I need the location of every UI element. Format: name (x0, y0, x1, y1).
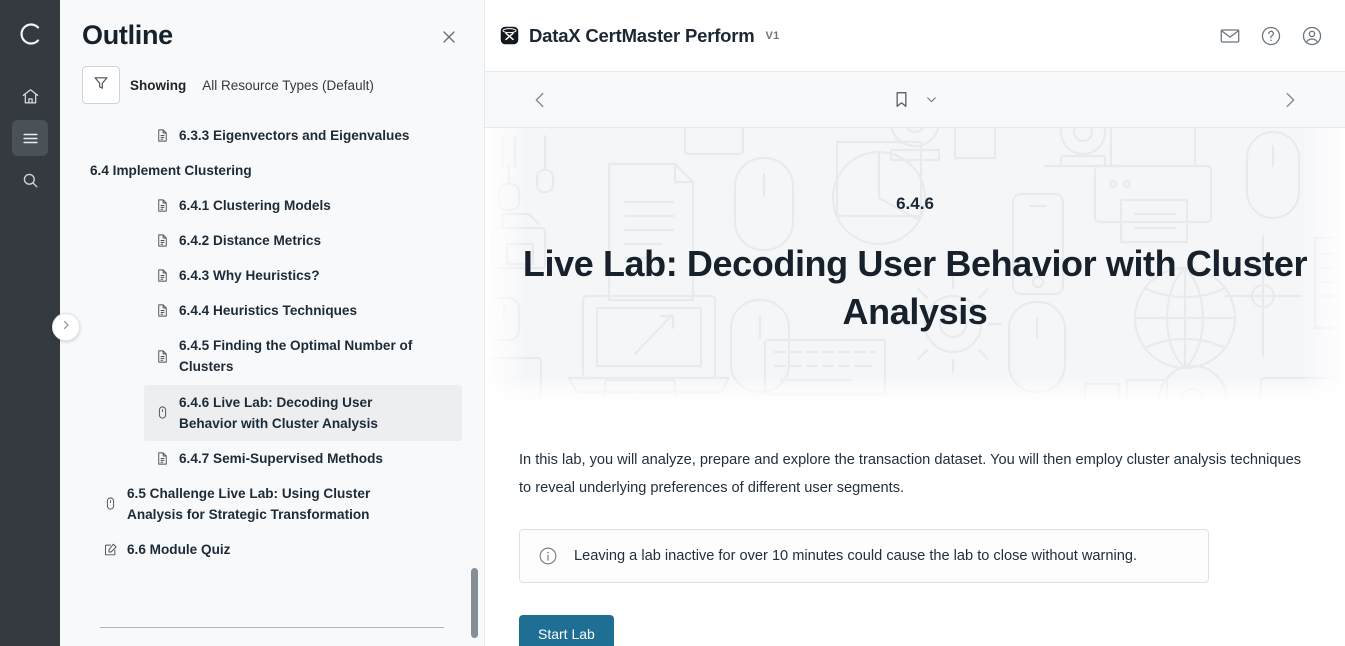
start-lab-button[interactable]: Start Lab (519, 615, 614, 646)
brand-version: V1 (766, 30, 780, 42)
list-item[interactable]: 6.6 Module Quiz (92, 532, 462, 567)
brand[interactable]: DataX CertMaster Perform V1 (499, 25, 780, 47)
datax-logo-icon (499, 25, 520, 46)
filter-button[interactable] (82, 66, 120, 104)
help-circle-icon[interactable] (1260, 25, 1282, 47)
document-icon (154, 268, 170, 284)
list-item-label: 6.4.1 Clustering Models (179, 195, 331, 216)
document-icon (154, 303, 170, 319)
list-item-label: 6.4.7 Semi-Supervised Methods (179, 448, 383, 469)
outline-scrollbar-track[interactable] (471, 8, 478, 638)
outline-tree-list: 6.3.3 Eigenvectors and Eigenvalues 6.4 I… (78, 116, 462, 567)
c-logo-icon[interactable] (10, 14, 50, 54)
lesson-description: In this lab, you will analyze, prepare a… (519, 446, 1309, 503)
document-icon (154, 348, 170, 364)
bookmark-icon[interactable] (892, 90, 911, 109)
topbar-icon-group (1219, 25, 1323, 47)
document-icon (154, 450, 170, 466)
showing-value[interactable]: All Resource Types (Default) (202, 78, 374, 93)
lesson-number: 6.4.6 (896, 194, 934, 214)
left-icon-rail (0, 0, 60, 646)
list-item-label: 6.5 Challenge Live Lab: Using Cluster An… (127, 483, 427, 525)
mouse-icon (154, 405, 170, 421)
sidebar-item-home[interactable] (12, 78, 48, 114)
home-icon (21, 87, 40, 106)
chevron-right-icon (60, 318, 72, 336)
brand-title: DataX CertMaster Perform (529, 25, 755, 47)
list-item-label: 6.4.5 Finding the Optimal Number of Clus… (179, 335, 425, 377)
document-icon (154, 198, 170, 214)
lesson-hero-banner: 6.4.6 Live Lab: Decoding User Behavior w… (485, 128, 1345, 402)
list-item[interactable]: 6.5 Challenge Live Lab: Using Cluster An… (92, 476, 462, 532)
search-icon (21, 171, 40, 190)
lesson-title: Live Lab: Decoding User Behavior with Cl… (520, 240, 1310, 335)
page-title: Outline (82, 20, 173, 51)
list-item[interactable]: 6.4.7 Semi-Supervised Methods (144, 441, 462, 476)
chevron-down-icon[interactable] (925, 93, 938, 106)
filter-row: Showing All Resource Types (Default) (60, 58, 484, 116)
list-item-label: 6.4.6 Live Lab: Decoding User Behavior w… (179, 392, 425, 434)
app-root: Outline Showing All Resource Types (Defa… (0, 0, 1345, 646)
list-item-label: 6.4.2 Distance Metrics (179, 230, 321, 251)
showing-label: Showing (130, 78, 186, 93)
account-circle-icon[interactable] (1301, 25, 1323, 47)
sidebar-item-menu[interactable] (12, 120, 48, 156)
main-area: DataX CertMaster Perform V1 (485, 0, 1345, 646)
content-nav-bar (485, 72, 1345, 128)
list-item[interactable]: 6.4.4 Heuristics Techniques (144, 293, 462, 328)
lesson-content: In this lab, you will analyze, prepare a… (485, 402, 1345, 646)
outline-panel: Outline Showing All Resource Types (Defa… (60, 0, 485, 646)
list-item[interactable]: 6.4.2 Distance Metrics (144, 223, 462, 258)
info-circle-icon (538, 546, 558, 566)
inactivity-notice: Leaving a lab inactive for over 10 minut… (519, 529, 1209, 583)
filter-icon (92, 74, 110, 97)
top-bar: DataX CertMaster Perform V1 (485, 0, 1345, 72)
mail-icon[interactable] (1219, 25, 1241, 47)
list-item[interactable]: 6.4.3 Why Heuristics? (144, 258, 462, 293)
list-item[interactable]: 6.3.3 Eigenvectors and Eigenvalues (144, 118, 462, 153)
content-scroll-area[interactable]: 6.4.6 Live Lab: Decoding User Behavior w… (485, 128, 1345, 646)
outline-tree: 6.3.3 Eigenvectors and Eigenvalues 6.4 I… (60, 116, 484, 646)
outline-divider (100, 627, 444, 628)
list-item-label: 6.4.3 Why Heuristics? (179, 265, 320, 286)
list-item-label: 6.4.4 Heuristics Techniques (179, 300, 357, 321)
panel-toggle-button[interactable] (52, 313, 80, 341)
previous-page-button[interactable] (529, 89, 551, 111)
list-item[interactable]: 6.4.5 Finding the Optimal Number of Clus… (144, 328, 462, 384)
list-item[interactable]: 6.4 Implement Clustering (78, 153, 462, 188)
next-page-button[interactable] (1279, 89, 1301, 111)
close-button[interactable] (436, 26, 462, 52)
notice-text: Leaving a lab inactive for over 10 minut… (574, 548, 1137, 564)
sidebar-item-search[interactable] (12, 162, 48, 198)
list-item-label: 6.4 Implement Clustering (90, 160, 252, 181)
document-icon (154, 233, 170, 249)
hero-fade-bottom (485, 376, 1345, 402)
list-item[interactable]: 6.4.6 Live Lab: Decoding User Behavior w… (144, 385, 462, 441)
document-icon (154, 128, 170, 144)
bookmark-group (485, 90, 1345, 109)
pencil-square-icon (102, 541, 118, 557)
close-icon (439, 27, 459, 52)
list-item[interactable]: 6.4.1 Clustering Models (144, 188, 462, 223)
mouse-icon (102, 496, 118, 512)
outline-scrollbar-thumb[interactable] (471, 568, 478, 638)
outline-header: Outline (60, 0, 484, 58)
hamburger-menu-icon (21, 129, 40, 148)
list-item-label: 6.6 Module Quiz (127, 539, 230, 560)
list-item-label: 6.3.3 Eigenvectors and Eigenvalues (179, 125, 409, 146)
